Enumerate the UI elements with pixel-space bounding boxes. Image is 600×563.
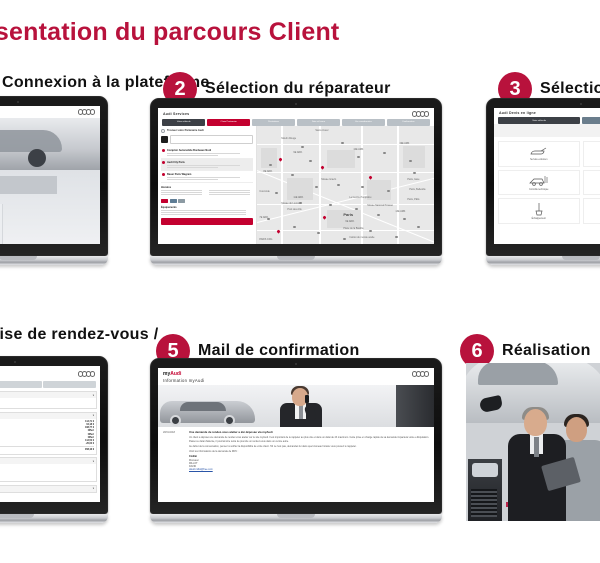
service-grid: Service entretien Pneumatiques [494, 137, 600, 228]
oil-can-icon [529, 145, 549, 157]
find-partner-heading: Trouvez votre Partenaire Audi [161, 129, 253, 133]
page-header-1: g [0, 106, 100, 117]
step-chip-confirmation[interactable]: Confirmation [387, 119, 430, 126]
laptop-base-3 [486, 256, 600, 265]
audi-rings-icon [78, 371, 95, 377]
email-paragraph: Un client a déposé une demande de rendez… [189, 436, 429, 442]
dealer-sidebar: Trouvez votre Partenaire Audi Comptoir A… [158, 126, 257, 244]
map-label: Paris, Belleville [409, 188, 425, 191]
email-hero-image [158, 385, 434, 427]
service-card-carrosserie[interactable]: Carrosserie rapide [583, 170, 600, 195]
map-pin-icon[interactable] [321, 165, 325, 169]
laptop-base-2 [150, 256, 442, 265]
map-pin-icon[interactable] [369, 175, 373, 179]
email-title: Information myAudi [158, 378, 434, 385]
step-chip-vehicule[interactable]: Votre véhicule [498, 117, 580, 124]
myaudi-accent: Audi [170, 371, 181, 377]
service-card-freinage[interactable]: Freinage [583, 198, 600, 224]
service-label: Carrosserie rapide [585, 188, 600, 190]
map-label: 13E ARR. [395, 210, 406, 213]
photo-equipment [468, 459, 502, 521]
dealer-pin-icon [162, 149, 165, 152]
hours-column [161, 190, 206, 197]
service-label: Contrôle technique [500, 189, 578, 191]
step-chip-vehicule[interactable]: Votre véhicule [162, 119, 205, 126]
inspection-icon [528, 174, 550, 187]
service-card-pneumatiques[interactable]: Pneumatiques [583, 141, 600, 167]
recap-value: Offert [88, 437, 94, 439]
service-card-controle[interactable]: Contrôle technique [498, 170, 580, 195]
service-label: Freinage [585, 218, 600, 220]
laptop-base-1 [0, 256, 108, 265]
brand-title-2: Audi Services [163, 112, 189, 116]
dealer-pin-icon [162, 173, 165, 176]
step-label-6: Réalisation [502, 342, 591, 360]
screen-3: Audi Devis en ligne Votre véhicule Vos p… [494, 108, 600, 244]
map-label: Institut du monde arabe [349, 236, 374, 239]
myaudi-logo: myAudi [163, 371, 181, 377]
workshop-photo [466, 363, 600, 521]
audi-rings-icon [412, 111, 429, 117]
recap-value: Offert [88, 434, 94, 436]
step-chip-coordonnees[interactable]: Vos coordonnées [342, 119, 385, 126]
recap-value: 64,18 € [86, 424, 94, 426]
audi-rings-icon [412, 371, 429, 377]
screen-2: Audi Services Votre véhicule Choix Parte… [158, 108, 434, 244]
hours-heading: Horaires [161, 186, 253, 189]
service-filter-bar: Rechercher [494, 124, 600, 137]
contact-block: Civilité Monsieur MILLOT DAVID david.mil… [189, 455, 429, 471]
hero-photo-garage [0, 118, 100, 170]
recap-total-value: 458,16 € [85, 449, 94, 451]
email-confirmation: myAudi Information myAudi 28/01/2018 [158, 368, 434, 502]
map-label: Musée du Louvre [281, 202, 299, 205]
page-choix-partenaire: Audi Services Votre véhicule Choix Parte… [158, 108, 434, 244]
recap-value: 188,77 € [85, 427, 94, 429]
email-subject: Une demande de rendez-vous atelier a été… [189, 431, 429, 434]
progress-steps-3: Votre véhicule Vos prestations [494, 117, 600, 124]
map-label: 11E ARR. [293, 196, 303, 199]
page-header-4 [0, 366, 100, 381]
page-recapitulatif: Votre rendez-vous atelier▾ Entretien sur… [0, 366, 100, 502]
recap-panel[interactable]: Votre véhicule▾ [0, 485, 97, 493]
partner-finder-body: Trouvez votre Partenaire Audi Comptoir A… [158, 126, 434, 244]
progress-steps-4 [0, 381, 100, 388]
step-label-4: Prise de rendez-vous / [0, 326, 158, 344]
map-label: 10E ARR. [353, 148, 364, 151]
chevron-down-icon[interactable]: ▾ [93, 394, 94, 397]
recap-value: Offert [88, 430, 94, 432]
dealer-search-row[interactable] [161, 135, 253, 144]
recap-value: 112,71 € [85, 421, 94, 423]
webcam-dot [295, 103, 298, 106]
badge-carrosserie [178, 199, 185, 203]
recap-value: -20,00 € [86, 443, 94, 445]
screen-1: g [0, 106, 100, 244]
paris-map[interactable]: Sacré-Cœur Moulin Rouge 9E ARR. 10E ARR.… [257, 126, 434, 244]
webcam-dot [580, 103, 583, 106]
chevron-down-icon[interactable]: ▾ [93, 487, 94, 490]
contact-email-link[interactable]: david.millot@free.com [189, 468, 213, 471]
laptop-mockup-3: Audi Devis en ligne Votre véhicule Vos p… [486, 98, 600, 265]
recap-panel[interactable]: Détail des travaux▾ Vidange moteur avec … [0, 412, 97, 455]
laptop-base-4 [0, 514, 108, 523]
photo-advisor [276, 385, 328, 427]
step-chip-partenaire[interactable]: Choix Partenaire [207, 119, 250, 126]
progress-steps-2: Votre véhicule Choix Partenaire Prestati… [158, 119, 434, 126]
map-pin-icon[interactable] [323, 215, 327, 219]
map-label: Concorde [259, 190, 269, 193]
slide-canvas: Présentation du parcours Client 1 Connex… [0, 0, 600, 563]
map-label: Le Centre Pompidou [349, 196, 371, 199]
step-chip-prestations[interactable]: Prestations [252, 119, 295, 126]
geolocate-icon[interactable] [161, 136, 168, 143]
recap-panels: Votre rendez-vous atelier▾ Entretien sur… [0, 388, 100, 498]
map-label: Paris, Pâtis [407, 198, 419, 201]
step-chip-prestations[interactable]: Vos prestations [582, 117, 600, 124]
badge-pieces [170, 199, 177, 203]
step-chip-date[interactable]: Date et heure [297, 119, 340, 126]
laptop-mockup-5: myAudi Information myAudi 28/01/2018 [150, 358, 442, 523]
dealer-list-item[interactable]: Comptoir Automobile Bordeaux Nord [161, 147, 253, 159]
map-label: Moulin Rouge [281, 137, 296, 140]
dealer-pin-icon [162, 161, 165, 164]
step-label-3: Sélection des prestations [540, 80, 600, 98]
dealer-name: Bauer Paris Wagram [167, 173, 191, 176]
map-label: Musée National Picasso [367, 204, 393, 207]
map-label: 8E ARR. [263, 170, 272, 173]
dealer-search-input[interactable] [170, 135, 253, 144]
webcam-dot [295, 363, 298, 366]
screen-4: Votre rendez-vous atelier▾ Entretien sur… [0, 366, 100, 502]
laptop-mockup-1: g [0, 96, 108, 265]
page-header-3: Audi Devis en ligne [494, 108, 600, 117]
map-label: Pont des Arts [287, 208, 301, 211]
laptop-mockup-2: Audi Services Votre véhicule Choix Parte… [150, 98, 442, 265]
step-label-2: Sélection du réparateur [205, 80, 391, 98]
wiper-icon [532, 202, 546, 216]
email-date: 28/01/2018 [163, 431, 185, 498]
page-connexion: g [0, 106, 100, 244]
brand-title-3: Audi Devis en ligne [499, 111, 536, 115]
dealer-list-item[interactable]: Audi City Paris [161, 159, 253, 171]
service-badges [161, 199, 253, 203]
service-label: Pneumatiques [585, 161, 600, 163]
page-header-2: Audi Services [158, 108, 434, 119]
dealer-list-item[interactable]: Bauer Paris Wagram [161, 171, 253, 183]
map-label: 19E ARR. [399, 142, 410, 145]
recap-panel[interactable]: Votre rendez-vous atelier▾ Entretien sur… [0, 391, 97, 409]
recap-value: 112,50 € [85, 440, 94, 442]
equipment-heading: Équipements [161, 206, 253, 209]
hero-photo-showroom [0, 170, 100, 244]
recap-panel[interactable]: Votre Partenaire▾ 1er Choix Automobiles … [0, 457, 97, 482]
email-body: 28/01/2018 Une demande de rendez-vous at… [158, 427, 434, 502]
audi-rings-icon [78, 109, 95, 115]
map-pin-icon [161, 129, 165, 133]
service-card-entretien[interactable]: Service entretien [498, 141, 580, 167]
chevron-down-icon[interactable]: ▾ [93, 460, 94, 463]
find-partner-label: Trouvez votre Partenaire Audi [167, 129, 204, 132]
webcam-dot [17, 101, 20, 104]
choose-partner-button[interactable] [161, 218, 253, 225]
screen-5: myAudi Information myAudi 28/01/2018 [158, 368, 434, 502]
email-header: myAudi [158, 368, 434, 378]
laptop-mockup-4: Votre rendez-vous atelier▾ Entretien sur… [0, 356, 108, 523]
map-label: Musée Grévin [321, 178, 336, 181]
webcam-dot [14, 361, 17, 364]
page-title: Présentation du parcours Client [0, 18, 374, 47]
map-city-label: Paris [343, 212, 353, 217]
email-paragraph: Au début de la conversation, pensez à vé… [189, 445, 429, 448]
page-devis-en-ligne: Audi Devis en ligne Votre véhicule Vos p… [494, 108, 600, 244]
service-label: Échappement [500, 218, 578, 220]
service-label: Service entretien [500, 159, 578, 161]
map-label: 9E ARR. [293, 151, 302, 154]
email-paragraph: Voici les informations de la demande de … [189, 450, 429, 453]
step-header-4: 4 Prise de rendez-vous / [0, 318, 158, 352]
service-card-echappement[interactable]: Échappement [498, 198, 580, 224]
laptop-base-5 [150, 514, 442, 523]
map-label: Paris, Gare [407, 178, 419, 181]
map-label: Sacré-Cœur [315, 129, 328, 132]
services-column [209, 190, 254, 197]
badge-atelier [161, 199, 168, 203]
dealer-name: Comptoir Automobile Bordeaux Nord [167, 149, 211, 152]
map-label: Place de la Bastille [343, 227, 363, 230]
map-label: PARIS CDG [259, 238, 272, 241]
chevron-down-icon[interactable]: ▾ [93, 414, 94, 417]
map-label: 6E ARR. [345, 220, 354, 223]
dealer-name: Audi City Paris [167, 161, 185, 164]
